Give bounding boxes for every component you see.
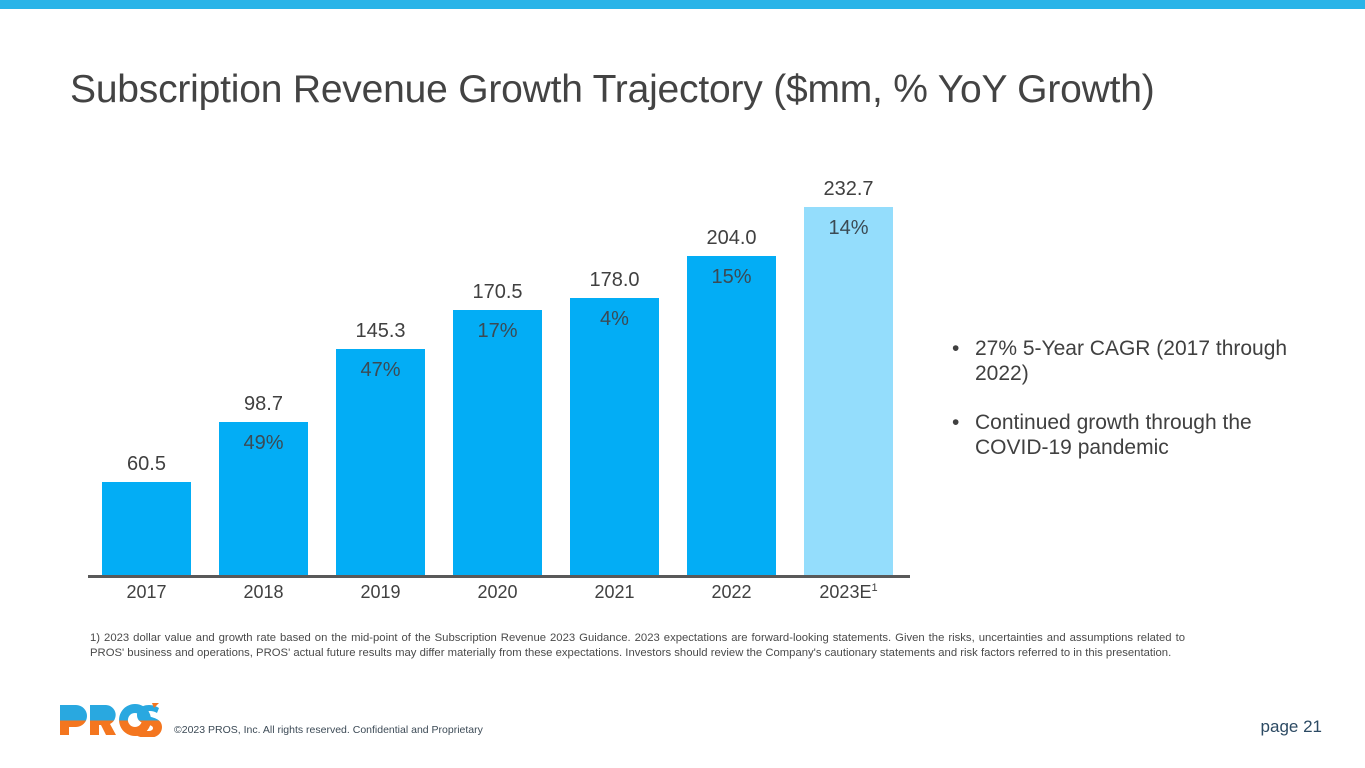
x-axis-line [88,575,910,578]
bar-value-label: 204.0 [673,227,790,250]
bullet-icon: • [952,336,959,361]
bar-growth-label: 4% [556,308,673,331]
list-item: • Continued growth through the COVID-19 … [948,410,1298,460]
bar-2021[interactable] [570,298,659,575]
category-text: 2017 [126,582,166,602]
page-title: Subscription Revenue Growth Trajectory (… [70,64,1310,116]
bar-growth-label: 17% [439,320,556,343]
bar-group-2021: 178.0 4% 2021 [556,170,673,575]
bar-value-label: 145.3 [322,320,439,343]
category-text: 2022 [711,582,751,602]
category-text: 2023E [819,582,871,602]
category-text: 2020 [477,582,517,602]
bar-2019[interactable] [336,349,425,575]
bar-growth-label: 47% [322,359,439,382]
category-text: 2018 [243,582,283,602]
bar-chart: 60.5 2017 98.7 49% 2018 145.3 47% 2019 [88,170,910,610]
bar-growth-label: 14% [790,217,907,240]
bullet-text: Continued growth through the COVID-19 pa… [975,411,1252,459]
bar-value-label: 178.0 [556,269,673,292]
category-label-2020: 2020 [439,582,556,603]
bar-value-label: 232.7 [790,178,907,201]
bar-group-2019: 145.3 47% 2019 [322,170,439,575]
pros-logo [58,703,162,737]
category-label-2021: 2021 [556,582,673,603]
category-label-2017: 2017 [88,582,205,603]
category-label-2019: 2019 [322,582,439,603]
bar-group-2017: 60.5 2017 [88,170,205,575]
bar-value-label: 98.7 [205,393,322,416]
bar-value-label: 170.5 [439,281,556,304]
bar-growth-label: 15% [673,266,790,289]
highlights-list: • 27% 5-Year CAGR (2017 through 2022) • … [948,336,1298,484]
bar-2020[interactable] [453,310,542,575]
chart-plot-area: 60.5 2017 98.7 49% 2018 145.3 47% 2019 [88,170,910,578]
bar-group-2020: 170.5 17% 2020 [439,170,556,575]
category-text: 2019 [360,582,400,602]
list-item: • 27% 5-Year CAGR (2017 through 2022) [948,336,1298,386]
top-accent-bar [0,0,1365,9]
category-label-2022: 2022 [673,582,790,603]
footnote-text: 1) 2023 dollar value and growth rate bas… [90,631,1185,660]
bar-value-label: 60.5 [88,453,205,476]
bar-2017[interactable] [102,482,191,575]
bar-group-2023e: 232.7 14% 2023E1 [790,170,907,575]
category-text: 2021 [594,582,634,602]
bar-2023e[interactable] [804,207,893,575]
page-number: page 21 [1261,717,1322,737]
bar-group-2018: 98.7 49% 2018 [205,170,322,575]
bar-2022[interactable] [687,256,776,575]
slide-canvas: Subscription Revenue Growth Trajectory (… [0,0,1365,768]
bullet-text: 27% 5-Year CAGR (2017 through 2022) [975,337,1287,385]
footnote-marker: 1 [871,582,877,594]
bar-group-2022: 204.0 15% 2022 [673,170,790,575]
bar-growth-label: 49% [205,432,322,455]
category-label-2018: 2018 [205,582,322,603]
category-label-2023e: 2023E1 [790,582,907,603]
copyright-text: ©2023 PROS, Inc. All rights reserved. Co… [174,724,483,736]
bullet-icon: • [952,410,959,435]
